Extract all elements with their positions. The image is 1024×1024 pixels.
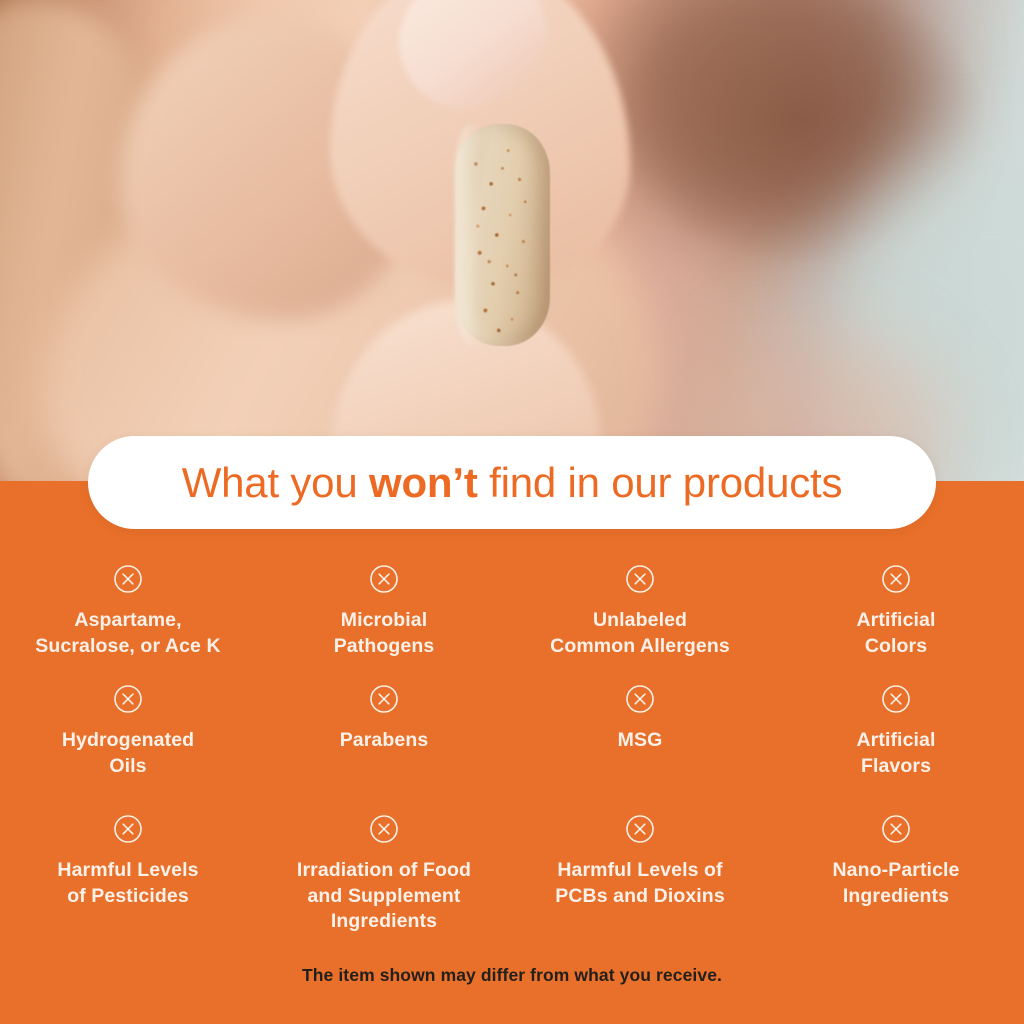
grid-item-label: Parabens (256, 728, 512, 754)
circle-x-icon (113, 564, 143, 594)
grid-item-label: Harmful Levels of Pesticides (0, 858, 256, 909)
grid-item-label: Microbial Pathogens (256, 608, 512, 659)
circle-x-icon (881, 814, 911, 844)
grid-item: Aspartame, Sucralose, or Ace K (0, 552, 256, 672)
grid-item: Artificial Flavors (768, 672, 1024, 802)
grid-item: MSG (512, 672, 768, 802)
headline-prefix: What you (182, 459, 369, 506)
circle-x-icon (369, 564, 399, 594)
grid-item-label: MSG (512, 728, 768, 754)
supplement-tablet-highlight (455, 124, 481, 346)
grid-item: Microbial Pathogens (256, 552, 512, 672)
grid-item: Artificial Colors (768, 552, 1024, 672)
headline-emphasis: won’t (369, 459, 478, 506)
grid-item: Harmful Levels of Pesticides (0, 802, 256, 932)
circle-x-icon (113, 684, 143, 714)
grid-item-label: Irradiation of Food and Supplement Ingre… (256, 858, 512, 935)
grid-item-label: Unlabeled Common Allergens (512, 608, 768, 659)
grid-item: Hydrogenated Oils (0, 672, 256, 802)
grid-item-label: Artificial Flavors (768, 728, 1024, 779)
circle-x-icon (625, 684, 655, 714)
grid-item: Parabens (256, 672, 512, 802)
circle-x-icon (369, 814, 399, 844)
grid-item: Irradiation of Food and Supplement Ingre… (256, 802, 512, 932)
circle-x-icon (881, 564, 911, 594)
grid-item-label: Artificial Colors (768, 608, 1024, 659)
circle-x-icon (881, 684, 911, 714)
circle-x-icon (369, 684, 399, 714)
page-title: What you won’t find in our products (182, 462, 843, 504)
circle-x-icon (625, 564, 655, 594)
disclaimer-text: The item shown may differ from what you … (0, 965, 1024, 986)
grid-item: Harmful Levels of PCBs and Dioxins (512, 802, 768, 932)
grid-item: Unlabeled Common Allergens (512, 552, 768, 672)
product-photo (0, 0, 1024, 482)
grid-item-label: Harmful Levels of PCBs and Dioxins (512, 858, 768, 909)
grid-item-label: Hydrogenated Oils (0, 728, 256, 779)
circle-x-icon (113, 814, 143, 844)
grid-item-label: Aspartame, Sucralose, or Ace K (0, 608, 256, 659)
excluded-ingredients-grid: Aspartame, Sucralose, or Ace K Microbial… (0, 552, 1024, 932)
circle-x-icon (625, 814, 655, 844)
product-infographic-poster: What you won’t find in our products Aspa… (0, 0, 1024, 1024)
headline-suffix: find in our products (478, 459, 843, 506)
grid-item: Nano-Particle Ingredients (768, 802, 1024, 932)
headline-pill: What you won’t find in our products (88, 436, 936, 529)
grid-item-label: Nano-Particle Ingredients (768, 858, 1024, 909)
